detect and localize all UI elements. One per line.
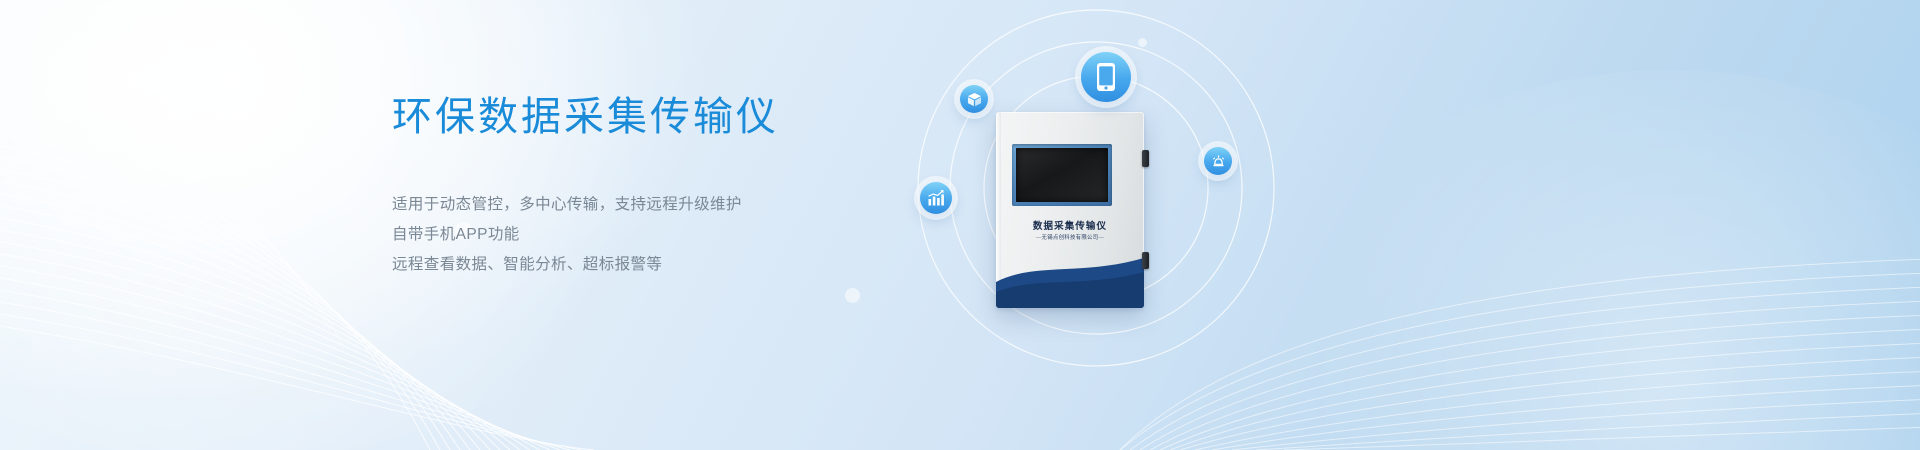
- device-screen-bezel: [1012, 144, 1112, 206]
- device-connector-nub: [1142, 150, 1149, 167]
- device-connector-nub: [1142, 252, 1149, 269]
- decorative-dot: [845, 288, 860, 303]
- product-hero-banner: 环保数据采集传输仪 适用于动态管控，多中心传输，支持远程升级维护 自带手机APP…: [0, 0, 1920, 450]
- package-box-icon: [960, 85, 988, 113]
- device-model-label: 数据采集传输仪: [996, 218, 1144, 232]
- page-title: 环保数据采集传输仪: [392, 92, 1032, 142]
- alarm-siren-icon: [1204, 147, 1232, 175]
- background-glow-bottom-right: [1260, 70, 1920, 450]
- device-display: [1016, 148, 1108, 202]
- subtitle-line-3: 远程查看数据、智能分析、超标报警等: [392, 250, 1032, 280]
- decorative-dot: [1138, 38, 1147, 47]
- device-company-label: —无锡点创科技有限公司—: [996, 233, 1144, 241]
- mobile-phone-icon: [1081, 52, 1131, 102]
- device-base-wave: [996, 252, 1144, 308]
- subtitle-line-2: 自带手机APP功能: [392, 220, 1032, 250]
- device-enclosure: 数据采集传输仪 —无锡点创科技有限公司—: [996, 112, 1144, 308]
- bar-chart-growth-icon: [920, 182, 952, 214]
- product-device-image: 数据采集传输仪 —无锡点创科技有限公司—: [996, 112, 1144, 308]
